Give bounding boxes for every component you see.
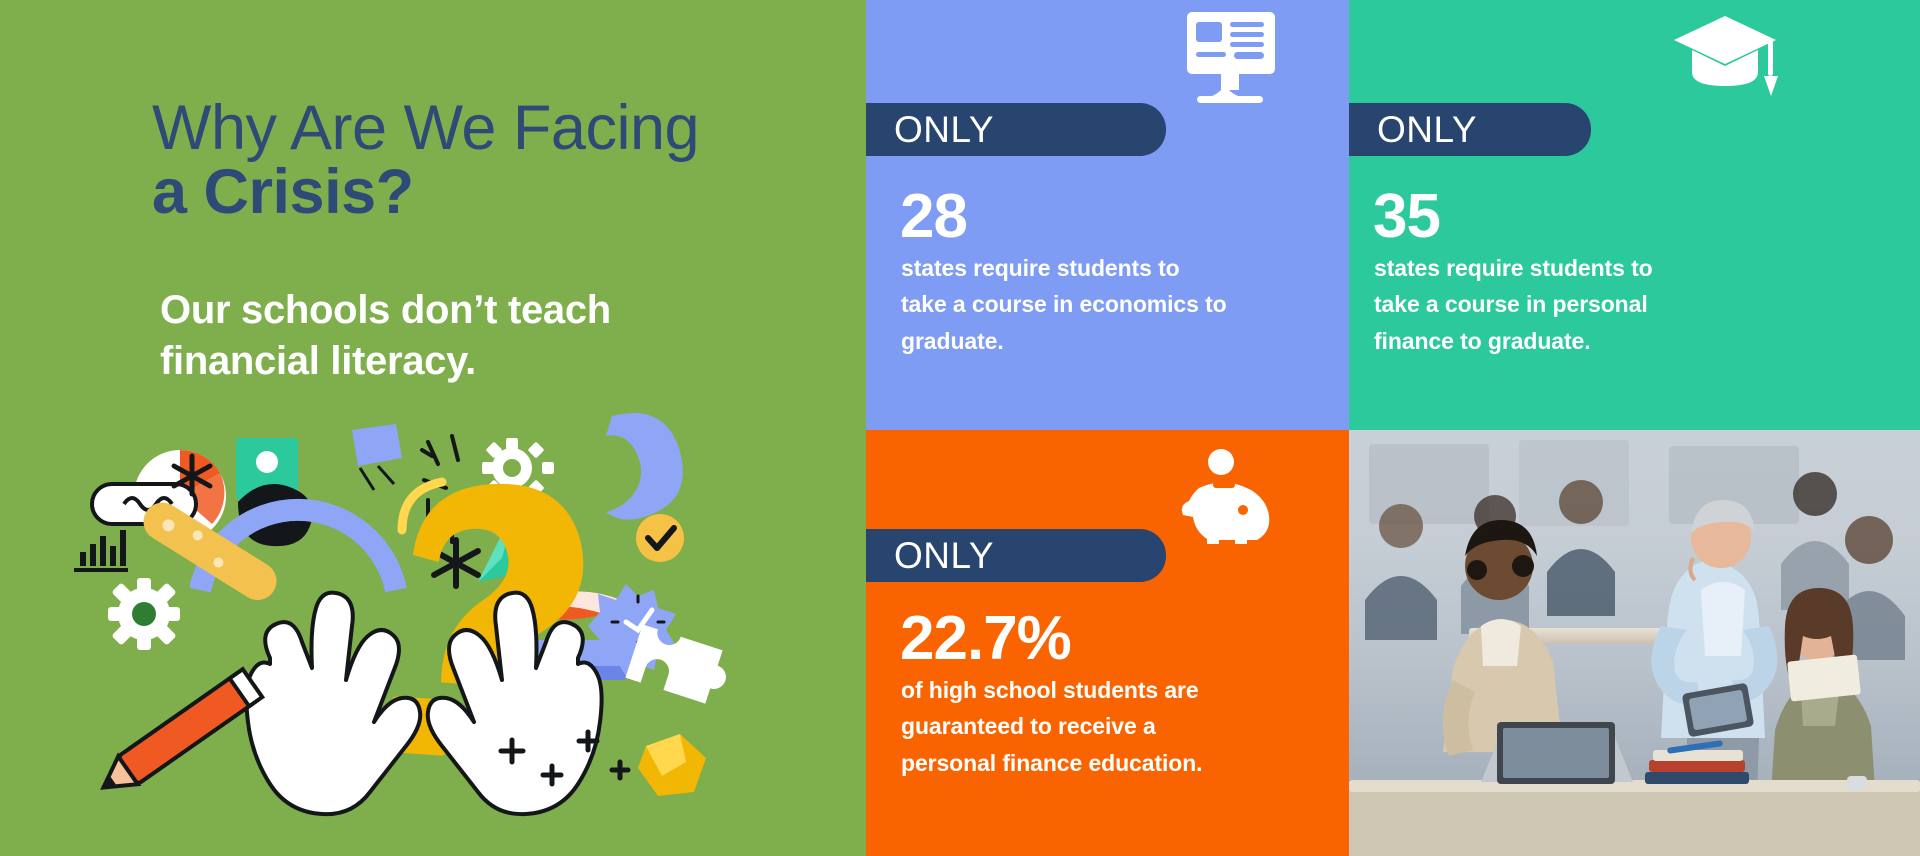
graduation-cap-icon	[1670, 8, 1780, 109]
only-badge: ONLY	[866, 103, 1166, 156]
only-badge: ONLY	[1349, 103, 1591, 156]
stat-card-guaranteed-personal-finance: ONLY 22.7% of high school students are g…	[866, 430, 1349, 856]
gear-icon-large	[108, 578, 180, 650]
stat-card-economics-course: ONLY 28 states require students to take …	[866, 0, 1349, 430]
blue-swoosh-shape	[606, 413, 683, 520]
desktop-monitor-icon	[1183, 8, 1279, 117]
hero-panel: Why Are We Facing a Crisis? Our schools …	[0, 0, 866, 856]
only-badge: ONLY	[866, 529, 1166, 582]
stat-value: 22.7%	[900, 608, 1071, 670]
infographic-root: Why Are We Facing a Crisis? Our schools …	[0, 0, 1920, 856]
check-circle-icon	[636, 514, 684, 562]
yellow-polygon-shape	[638, 734, 706, 796]
hero-subheading: Our schools don’t teach financial litera…	[160, 285, 780, 387]
classroom-students-teacher-photo	[1349, 430, 1920, 856]
stat-value: 35	[1373, 186, 1440, 248]
pencil-shape	[94, 669, 263, 801]
blue-kite-shape	[352, 424, 402, 490]
stat-description: states require students to take a course…	[901, 250, 1231, 359]
stat-value: 28	[900, 186, 967, 248]
piggy-bank-icon	[1173, 448, 1279, 549]
stat-card-personal-finance-course: ONLY 35 states require students to take …	[1349, 0, 1920, 430]
stats-grid: ONLY 28 states require students to take …	[866, 0, 1920, 856]
puzzle-piece-shape	[625, 624, 734, 707]
bar-chart-shape	[74, 530, 128, 572]
laptop-shape	[1481, 722, 1633, 784]
headline-line-2: a Crisis?	[152, 160, 812, 224]
stat-description: of high school students are guaranteed t…	[901, 672, 1231, 781]
stat-description: states require students to take a course…	[1374, 250, 1694, 359]
hands-holding-question-mark-illustration	[60, 410, 860, 856]
page-title: Why Are We Facing a Crisis?	[152, 96, 812, 225]
headline-line-1: Why Are We Facing	[152, 93, 699, 163]
